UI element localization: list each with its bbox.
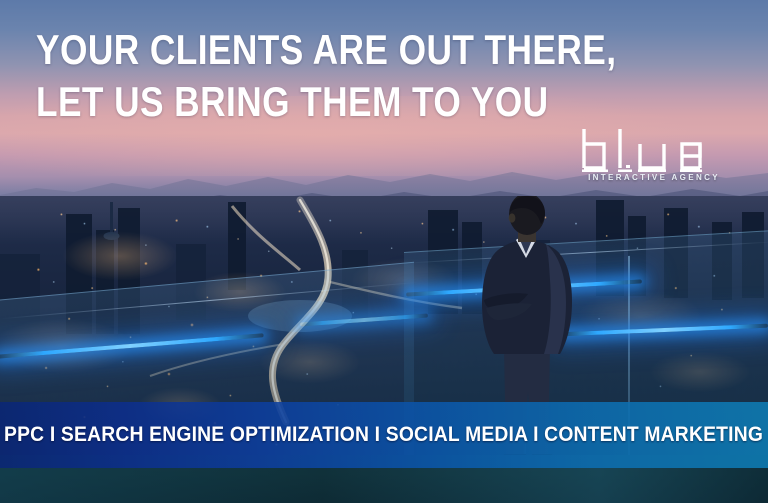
headline-line-1: YOUR CLIENTS ARE OUT THERE, (36, 24, 506, 76)
logo-wordmark-blue (578, 128, 730, 172)
services-banner: PPC I SEARCH ENGINE OPTIMIZATION I SOCIA… (0, 402, 768, 468)
logo-tagline: INTERACTIVE AGENCY (578, 173, 730, 182)
brand-logo[interactable]: INTERACTIVE AGENCY (578, 128, 730, 190)
headline-line-2: LET US BRING THEM TO YOU (36, 76, 506, 128)
services-banner-text: PPC I SEARCH ENGINE OPTIMIZATION I SOCIA… (4, 423, 763, 447)
page-title: YOUR CLIENTS ARE OUT THERE, LET US BRING… (36, 24, 506, 128)
promo-banner-image: YOUR CLIENTS ARE OUT THERE, LET US BRING… (0, 0, 768, 503)
